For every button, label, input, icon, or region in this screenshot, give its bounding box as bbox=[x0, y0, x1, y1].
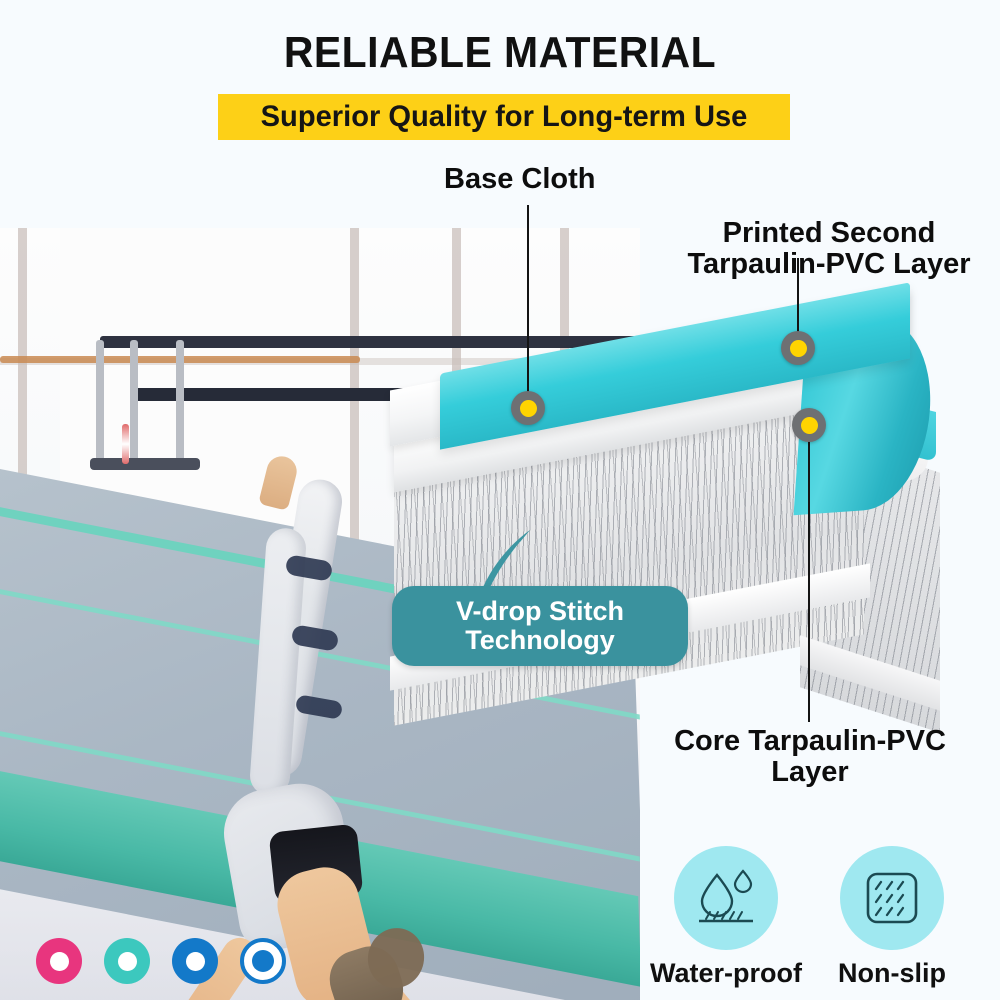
badge-line-1: V-drop Stitch bbox=[456, 597, 624, 626]
swatch-center bbox=[186, 952, 205, 971]
barre-marker bbox=[122, 424, 129, 464]
product-infographic: RELIABLE MATERIAL Superior Quality for L… bbox=[0, 0, 1000, 1000]
swatch-center bbox=[50, 952, 69, 971]
page-title: RELIABLE MATERIAL bbox=[35, 28, 965, 78]
feature-label: Water-proof bbox=[650, 958, 802, 989]
page-subtitle: Superior Quality for Long-term Use bbox=[227, 94, 782, 140]
leader-line-base-cloth bbox=[527, 205, 529, 407]
callout-line-2: Tarpaulin-PVC Layer bbox=[660, 249, 998, 280]
badge-line-2: Technology bbox=[465, 626, 615, 655]
callout-line-1: Printed Second bbox=[660, 218, 998, 249]
color-swatch-teal[interactable] bbox=[104, 938, 150, 984]
callout-line-1: Core Tarpaulin-PVC bbox=[620, 726, 1000, 757]
color-swatch-pink[interactable] bbox=[36, 938, 82, 984]
feature-non-slip: Non-slip bbox=[838, 846, 946, 989]
feature-icon-circle bbox=[840, 846, 944, 950]
color-swatch-blue[interactable] bbox=[172, 938, 218, 984]
swatch-center bbox=[252, 950, 274, 972]
swatch-center bbox=[118, 952, 137, 971]
color-swatch-selected[interactable] bbox=[240, 938, 286, 984]
leader-line-core-layer bbox=[808, 440, 810, 722]
color-swatch-group bbox=[36, 938, 286, 984]
callout-label-printed-pvc: Printed Second Tarpaulin-PVC Layer bbox=[660, 218, 998, 280]
feature-water-proof: Water-proof bbox=[650, 846, 802, 989]
marker-printed-pvc bbox=[781, 331, 815, 365]
vdrop-stitch-badge: V-drop Stitch Technology bbox=[392, 586, 688, 666]
marker-base-cloth bbox=[511, 391, 545, 425]
barre-post bbox=[130, 340, 138, 464]
water-drop-icon bbox=[693, 867, 759, 929]
callout-line-2: Layer bbox=[620, 757, 1000, 788]
feature-icon-circle bbox=[674, 846, 778, 950]
marker-dot bbox=[801, 417, 818, 434]
non-slip-grid-icon bbox=[862, 868, 922, 928]
barre-post bbox=[176, 340, 184, 470]
barre-base bbox=[90, 458, 200, 470]
callout-label-base-cloth: Base Cloth bbox=[444, 164, 595, 195]
marker-dot bbox=[790, 340, 807, 357]
feature-label: Non-slip bbox=[838, 958, 946, 989]
barre-post bbox=[96, 340, 104, 464]
callout-label-core-layer: Core Tarpaulin-PVC Layer bbox=[620, 726, 1000, 788]
marker-core-layer bbox=[792, 408, 826, 442]
marker-dot bbox=[520, 400, 537, 417]
